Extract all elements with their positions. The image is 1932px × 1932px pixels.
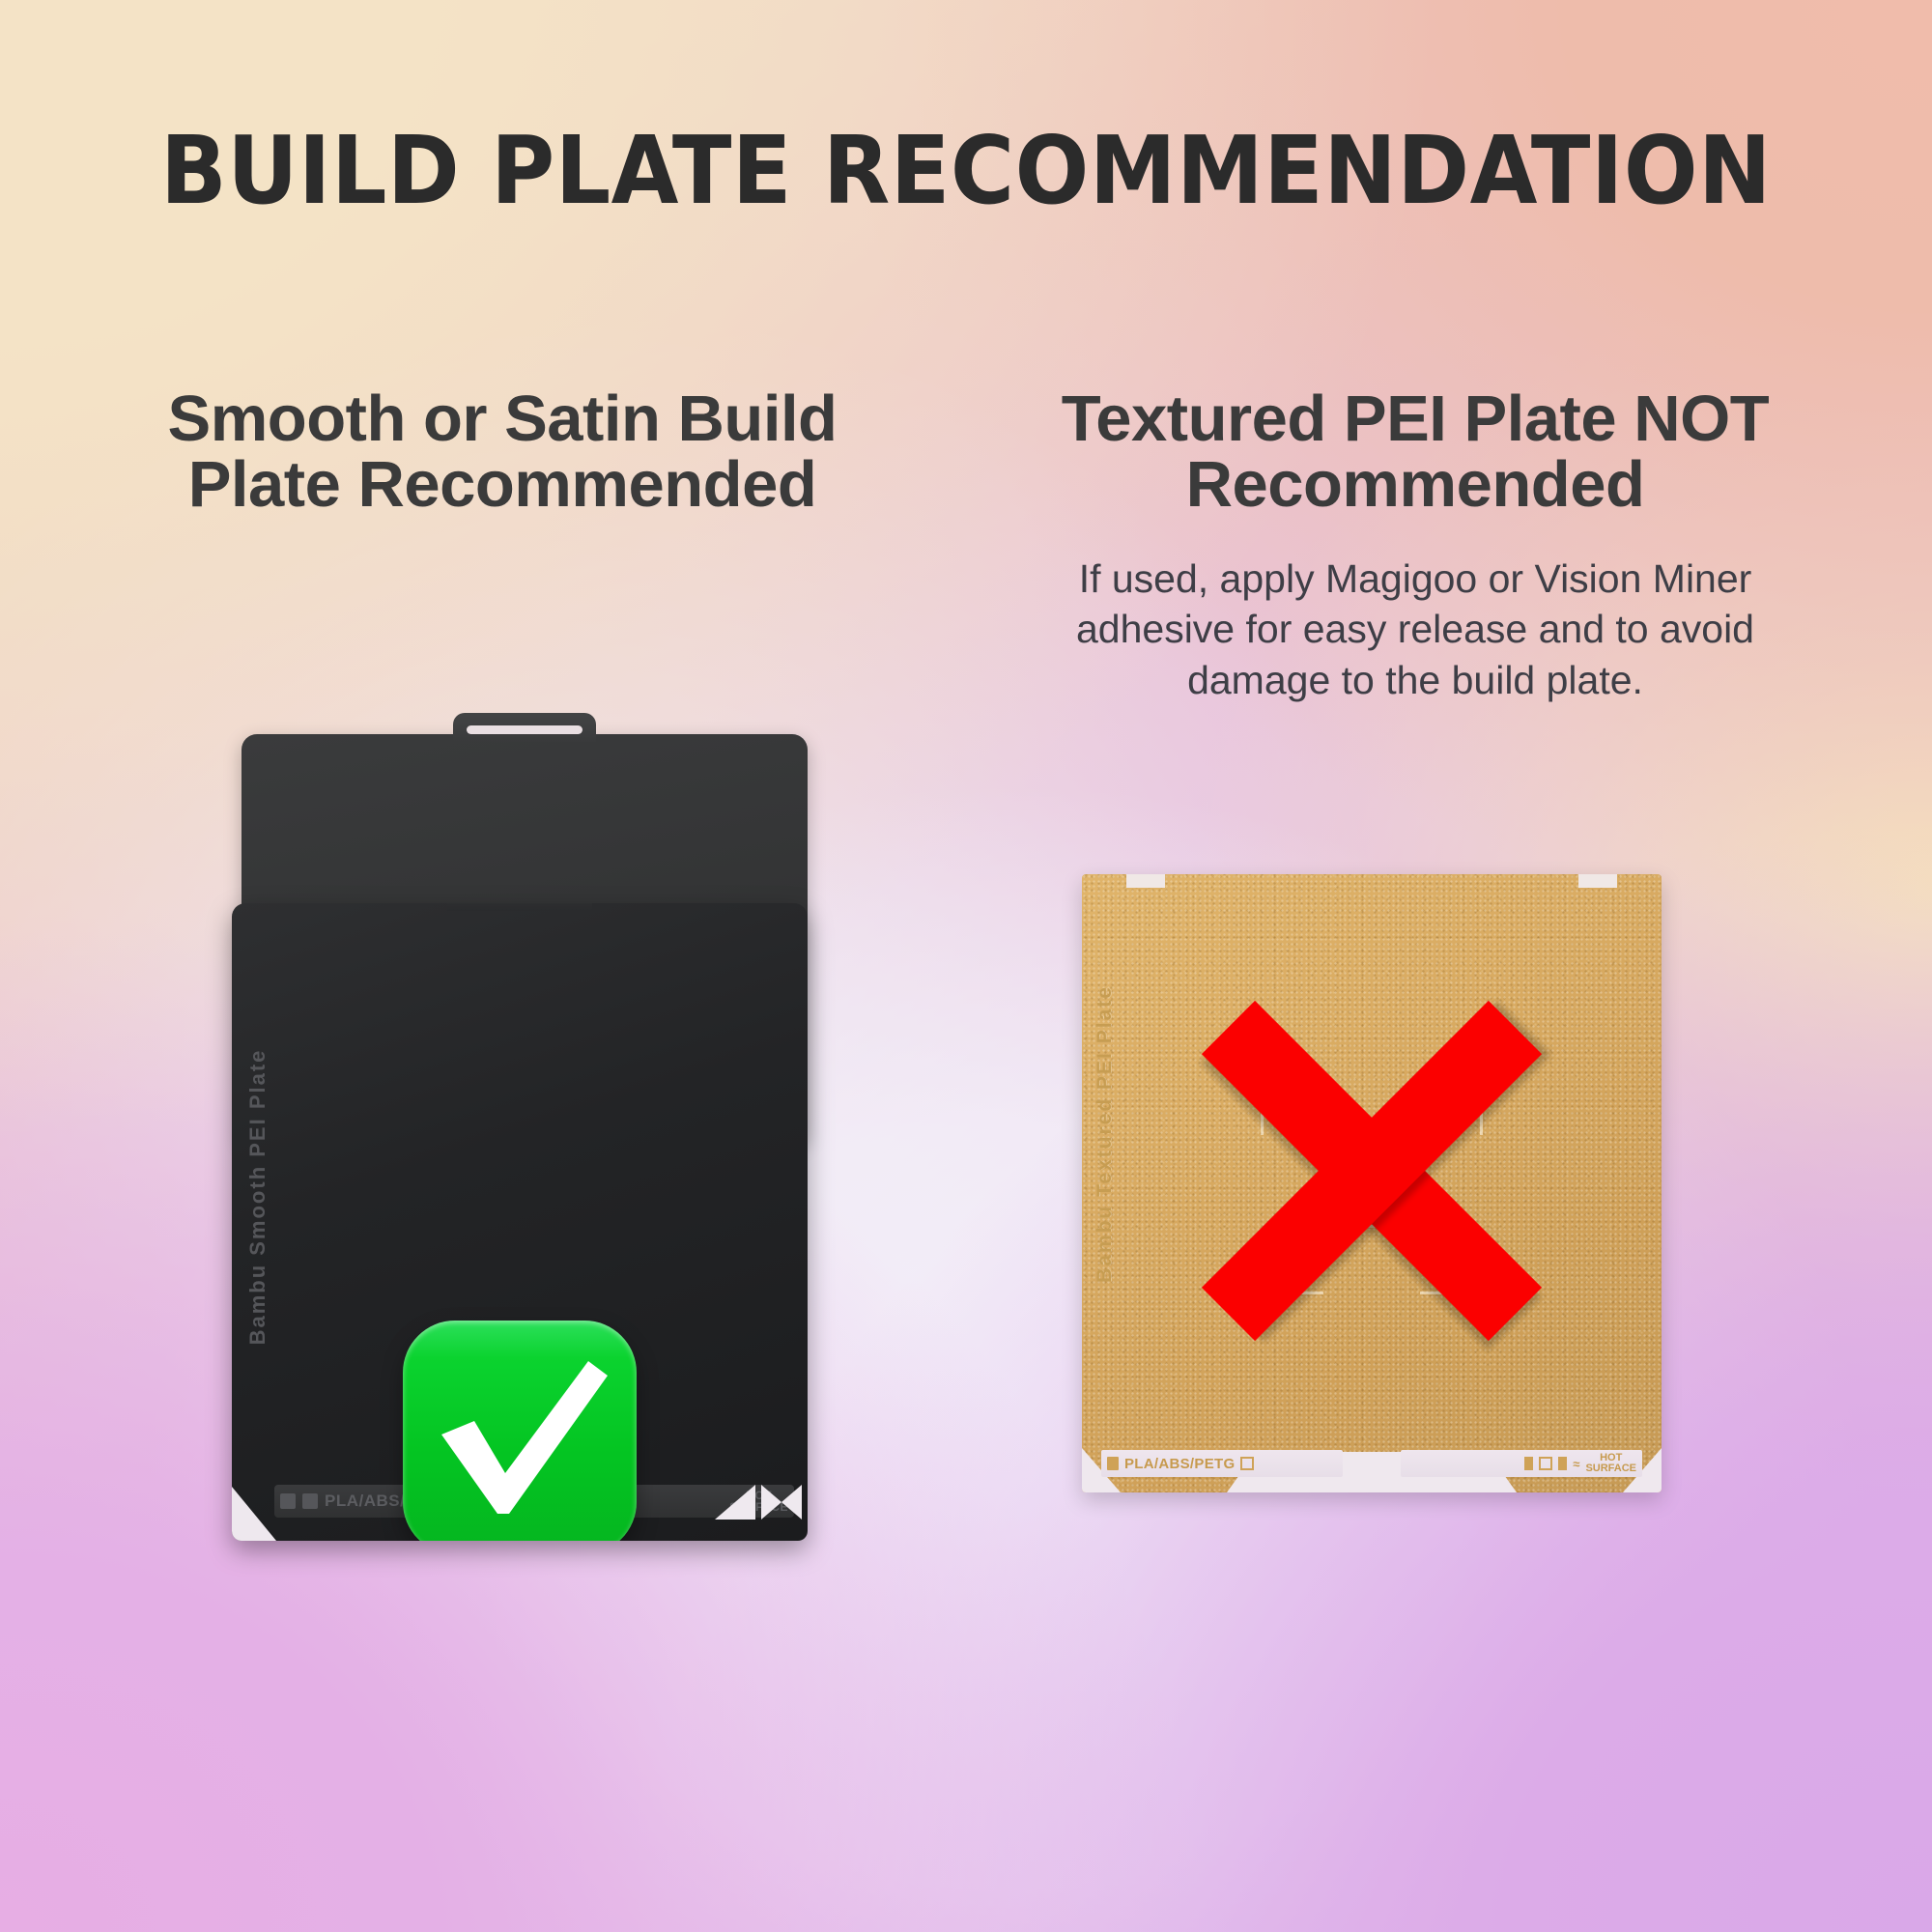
plate-corner-notch-left bbox=[232, 1487, 276, 1541]
arrow-up-icon-gold bbox=[1524, 1457, 1533, 1470]
textured-pei-plate-illustration: Bambu Textured PEI Plate PLA/ABS/PETG ≈ … bbox=[1082, 874, 1662, 1492]
front-build-plate: Bambu Smooth PEI Plate PLA/ABS/PETG HOT … bbox=[232, 903, 808, 1541]
plate-top-notch-left bbox=[1126, 874, 1165, 888]
red-x-mark bbox=[1169, 968, 1575, 1374]
textured-plate-hot-warning: HOT SURFACE bbox=[1585, 1453, 1636, 1474]
front-plate-handle-tab bbox=[447, 903, 592, 911]
right-column: Textured PEI Plate NOT Recommended If us… bbox=[966, 386, 1864, 705]
datamatrix-icon bbox=[302, 1493, 318, 1509]
textured-plate-info-strip-left: PLA/ABS/PETG bbox=[1101, 1450, 1343, 1477]
corner-cut-1 bbox=[715, 1485, 755, 1520]
corner-cut-2 bbox=[761, 1485, 802, 1520]
textured-plate-info-strip-right: ≈ HOT SURFACE bbox=[1401, 1450, 1642, 1477]
box-icon-gold bbox=[1539, 1457, 1552, 1470]
right-body-text: If used, apply Magigoo or Vision Miner a… bbox=[1024, 554, 1806, 705]
smooth-plate-side-label: Bambu Smooth PEI Plate bbox=[245, 1048, 270, 1345]
left-heading: Smooth or Satin Build Plate Recommended bbox=[58, 386, 947, 519]
square-icon-gold bbox=[1240, 1457, 1254, 1470]
rear-plate-handle-tab bbox=[453, 713, 596, 742]
heat-waves-icon: ≈ bbox=[1573, 1457, 1579, 1471]
textured-plate-materials: PLA/ABS/PETG bbox=[1124, 1456, 1235, 1472]
green-check-emoji bbox=[403, 1321, 637, 1541]
plate-top-notch-right bbox=[1578, 874, 1617, 888]
right-heading: Textured PEI Plate NOT Recommended bbox=[966, 386, 1864, 519]
plate-corner-cutouts bbox=[715, 1485, 802, 1520]
left-column: Smooth or Satin Build Plate Recommended bbox=[58, 386, 947, 519]
arrow-up-icon-gold-2 bbox=[1558, 1457, 1567, 1470]
textured-plate-side-label: Bambu Textured PEI Plate bbox=[1094, 985, 1117, 1283]
smooth-pei-plate-illustration: Bambu Smooth PEI Plate PLA/ABS/PETG HOT … bbox=[232, 734, 811, 1546]
qr-code-icon-gold bbox=[1107, 1457, 1119, 1470]
page-title: BUILD PLATE RECOMMENDATION bbox=[68, 116, 1864, 225]
qr-code-icon bbox=[280, 1493, 296, 1509]
